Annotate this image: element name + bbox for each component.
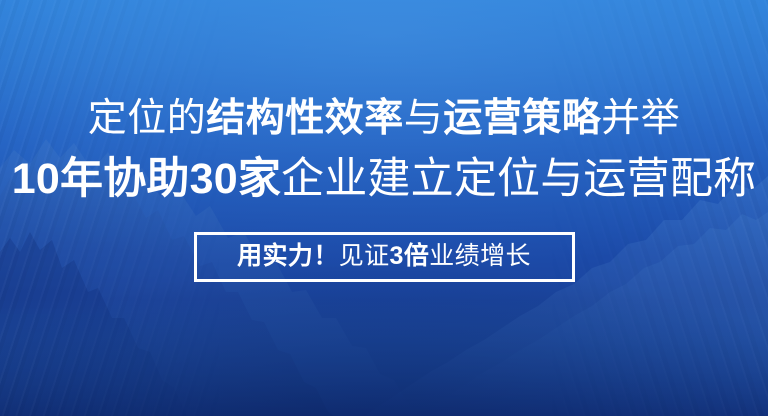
headline-line-2: 10年协助30家企业建立定位与运营配称 [12,155,756,203]
headline-line-1: 定位的结构性效率与运营策略并举 [88,97,681,141]
headline-2-segment-1: 10年协助30家 [12,155,281,203]
headline-1-segment-5: 并举 [601,97,680,140]
tagline-badge: 用实力！见证3倍业绩增长 [194,232,575,282]
headline-1-segment-1: 定位的 [88,97,207,140]
headline-1-segment-3: 与 [404,97,444,140]
headline-2-segment-2: 企业建立定位与运营配称 [281,155,756,203]
banner-content: 定位的结构性效率与运营策略并举 10年协助30家企业建立定位与运营配称 用实力！… [0,0,768,416]
headline-1-segment-4: 运营策略 [443,97,601,140]
hero-banner: 定位的结构性效率与运营策略并举 10年协助30家企业建立定位与运营配称 用实力！… [0,0,768,416]
headline-1-segment-2: 结构性效率 [206,97,404,140]
badge-segment-2: 见证 [339,242,390,270]
badge-segment-4: 业绩增长 [429,242,531,270]
badge-segment-1: 用实力！ [237,242,339,270]
tagline-badge-text: 用实力！见证3倍业绩增长 [237,242,531,270]
badge-segment-3: 3倍 [390,242,430,270]
